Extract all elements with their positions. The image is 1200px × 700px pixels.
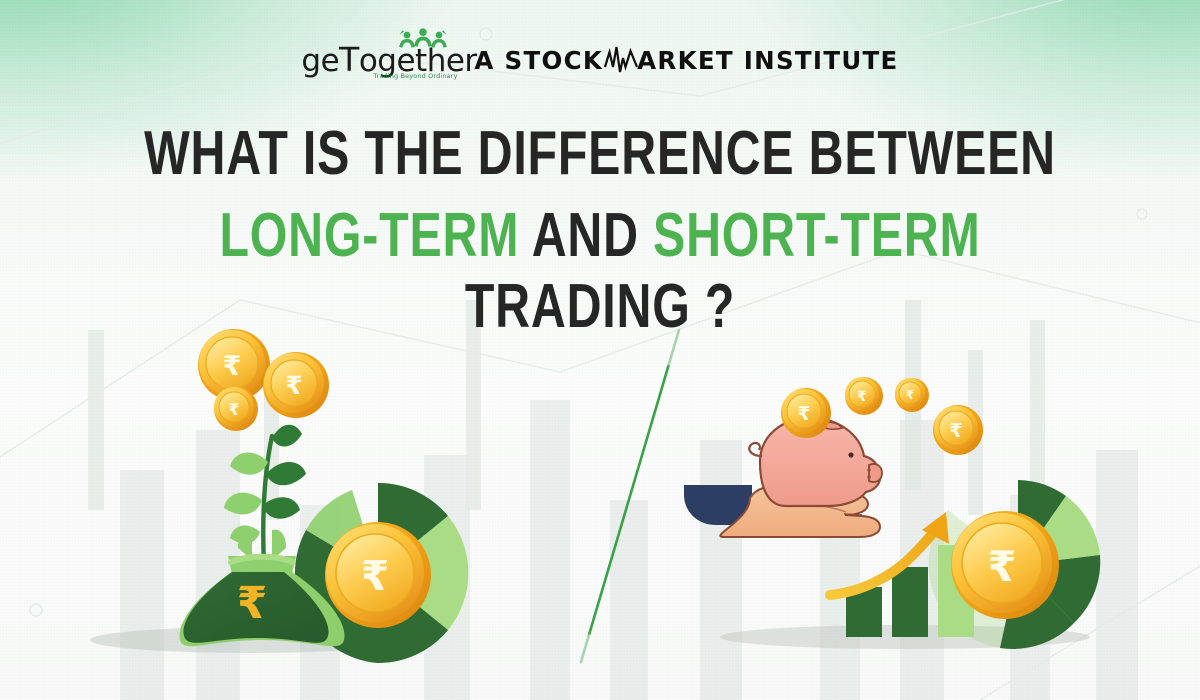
svg-text:₹: ₹ [949, 420, 962, 442]
right-rupee-coin-slot: ₹ [781, 388, 831, 438]
growth-bar-chart [846, 545, 974, 637]
growing-plant [224, 425, 306, 566]
headline-trading: TRADING ? [465, 272, 735, 341]
headline-short-term: SHORT-TERM [653, 201, 981, 270]
bar-1 [846, 587, 882, 637]
headline-line-1: WHAT IS THE DIFFERENCE BETWEEN [132, 118, 1068, 189]
right-rupee-coin-1: ₹ [845, 377, 883, 415]
headline-long-term: LONG-TERM [219, 201, 519, 270]
left-pie-coin-symbol: ₹ [361, 552, 390, 600]
left-rupee-coin-medium: ₹ [263, 352, 329, 418]
navy-sleeve [684, 485, 752, 525]
institute-text-after: ARKET INSTITUTE [637, 46, 898, 75]
long-term-trading-illustration: ₹ ₹ ₹ ₹ [179, 329, 468, 663]
svg-text:₹: ₹ [906, 388, 914, 402]
money-bag-rupee-symbol: ₹ [237, 578, 268, 629]
left-rupee-coin-small: ₹ [214, 387, 258, 431]
short-term-trading-illustration: ₹ [684, 377, 1100, 649]
logo-tagline: Trading Beyond Ordinary [373, 72, 457, 80]
right-ground-shadow [720, 625, 1090, 649]
diagonal-divider-line [581, 330, 679, 662]
left-pie-coin: ₹ [325, 522, 431, 628]
upward-growth-arrow [830, 512, 949, 595]
money-bag-neck [228, 530, 296, 600]
piggy-bank [749, 418, 882, 506]
svg-text:₹: ₹ [228, 400, 239, 419]
svg-text:₹: ₹ [285, 371, 302, 400]
institute-text-before: A STOCK [474, 46, 603, 75]
headline-line-2: LONG-TERM AND SHORT-TERM TRADING ? [132, 200, 1068, 342]
left-ground-shadow [90, 627, 410, 653]
left-pie-chart [295, 483, 468, 663]
money-bag: ₹ [179, 572, 344, 646]
logo-word-part1: ge [301, 43, 339, 79]
bar-2 [892, 567, 928, 637]
right-pie-coin-symbol: ₹ [987, 542, 1016, 591]
getogether-logo[interactable]: geTogether Trading Beyond Ordinary [301, 34, 456, 86]
heartbeat-pulse-icon [604, 45, 638, 75]
paper-texture-overlay [0, 0, 1200, 700]
right-rupee-coin-3: ₹ [933, 405, 983, 455]
headline-and: AND [519, 201, 653, 270]
right-pie-chart [929, 480, 1101, 649]
open-hand [720, 486, 880, 538]
bar-3 [938, 545, 974, 637]
brand-header: geTogether Trading Beyond Ordinary A STO… [0, 34, 1200, 86]
logo-word-cap: T [339, 40, 359, 79]
institute-title: A STOCK ARKET INSTITUTE [474, 45, 898, 75]
svg-text:₹: ₹ [223, 351, 242, 382]
right-rupee-coin-2: ₹ [895, 378, 929, 412]
right-pie-coin: ₹ [951, 511, 1059, 619]
poster-canvas: geTogether Trading Beyond Ordinary A STO… [0, 0, 1200, 700]
svg-text:₹: ₹ [797, 403, 810, 425]
background-chart-watermark [0, 0, 1200, 700]
svg-text:₹: ₹ [857, 389, 867, 405]
